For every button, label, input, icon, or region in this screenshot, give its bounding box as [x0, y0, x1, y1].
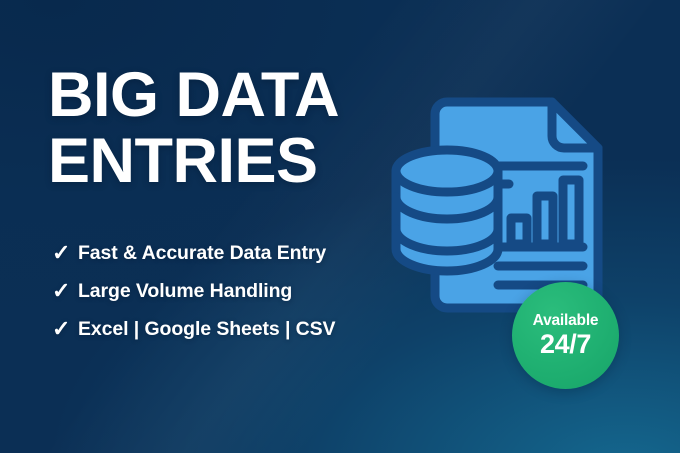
banner-poster: BIG DATA ENTRIES ✓ Fast & Accurate Data …: [0, 0, 680, 453]
feature-label: Fast & Accurate Data Entry: [78, 242, 326, 265]
feature-label: Large Volume Handling: [78, 280, 292, 303]
check-icon: ✓: [52, 280, 78, 302]
database-icon: [396, 150, 498, 271]
badge-bottom-label: 24/7: [540, 330, 591, 358]
feature-label: Excel | Google Sheets | CSV: [78, 318, 335, 341]
check-icon: ✓: [52, 242, 78, 264]
availability-badge: Available 24/7: [512, 282, 619, 389]
badge-top-label: Available: [533, 313, 599, 329]
database-top-disc: [396, 150, 498, 192]
check-icon: ✓: [52, 318, 78, 340]
